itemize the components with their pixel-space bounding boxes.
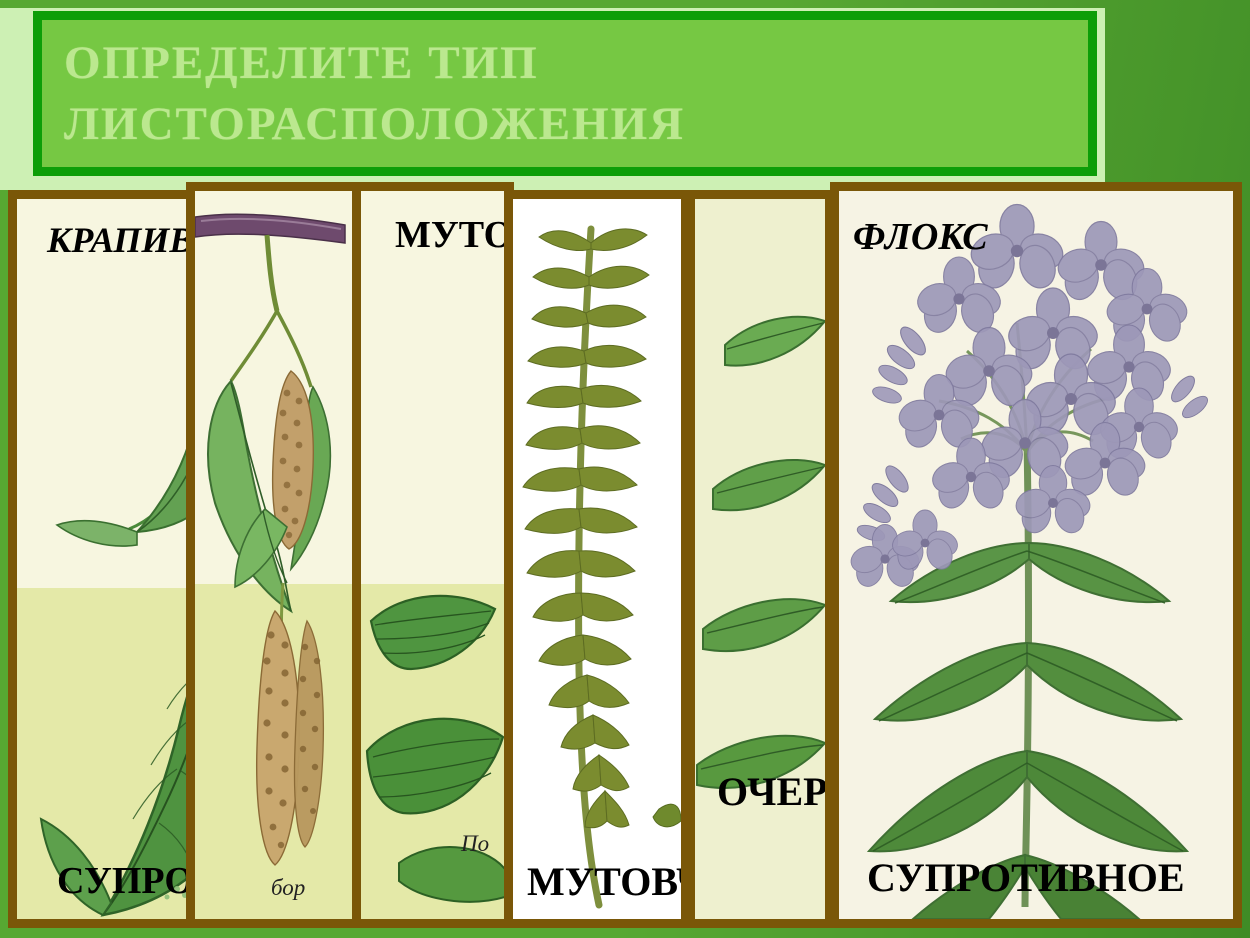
page-title-line-1: ОПРЕДЕЛИТЕ ТИП — [64, 33, 1088, 93]
card-willow[interactable]: ОЧЕРЕДНОЕ — [686, 190, 834, 928]
card-plantain-top-label: МУТОВЧАТОЕ — [395, 213, 505, 257]
card-phlox-top-label: ФЛОКС — [853, 215, 988, 259]
card-elodea[interactable]: МУТОВЧАТОЕ — [504, 190, 690, 928]
card-phlox-surface: ФЛОКС СУПРОТИВНОЕ — [839, 191, 1233, 919]
card-birch-caption: бор — [271, 875, 305, 901]
card-plantain[interactable]: МУТОВЧАТОЕ По — [352, 182, 514, 928]
card-phlox-bottom-label: СУПРОТИВНОЕ — [867, 854, 1185, 901]
page-title-line-2: ЛИСТОРАСПОЛОЖЕНИЯ — [64, 94, 1088, 154]
title-banner: ОПРЕДЕЛИТЕ ТИП ЛИСТОРАСПОЛОЖЕНИЯ — [33, 11, 1097, 176]
card-plantain-tint — [361, 584, 505, 919]
card-elodea-surface: МУТОВЧАТОЕ — [513, 199, 681, 919]
card-willow-surface: ОЧЕРЕДНОЕ — [695, 199, 825, 919]
elodea-illustration — [513, 199, 681, 919]
card-phlox[interactable]: ФЛОКС СУПРОТИВНОЕ — [830, 182, 1242, 928]
card-plantain-caption: По — [461, 831, 489, 857]
card-birch[interactable]: бор — [186, 182, 362, 928]
card-elodea-bottom-label: МУТОВЧАТОЕ — [527, 858, 681, 905]
card-willow-bottom-label: ОЧЕРЕДНОЕ — [717, 768, 825, 815]
card-plantain-surface: МУТОВЧАТОЕ По — [361, 191, 505, 919]
card-birch-surface: бор — [195, 191, 353, 919]
phlox-illustration — [839, 191, 1233, 919]
slide-canvas: ОПРЕДЕЛИТЕ ТИП ЛИСТОРАСПОЛОЖЕНИЯ — [0, 0, 1250, 938]
card-birch-tint — [195, 584, 353, 919]
